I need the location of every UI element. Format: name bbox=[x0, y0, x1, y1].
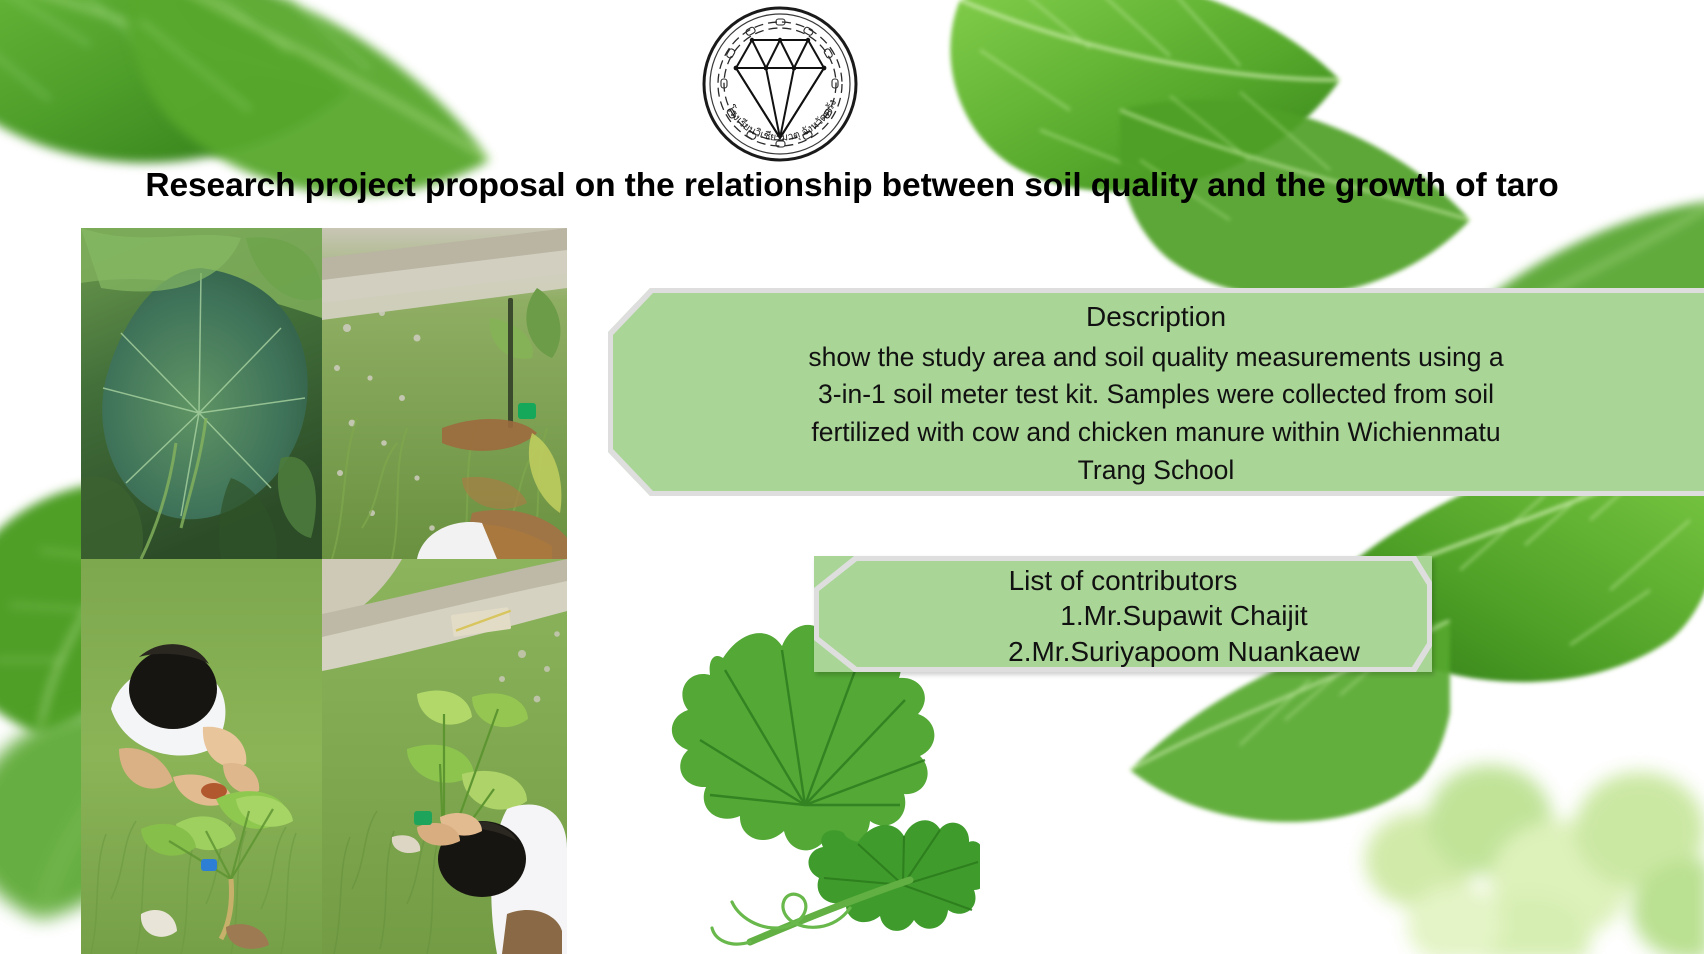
photo-student-measuring-border bbox=[322, 559, 567, 954]
description-line: 3-in-1 soil meter test kit. Samples were… bbox=[632, 376, 1680, 414]
description-body: show the study area and soil quality mea… bbox=[632, 339, 1680, 490]
contributor-item: 1.Mr.Supawit Chaijit bbox=[814, 598, 1554, 634]
school-emblem-icon: โรงเรียนวิเชียรมาตุ จังหวัดตรัง bbox=[700, 4, 860, 164]
contributor-item: 2.Mr.Suriyapoom Nuankaew bbox=[814, 634, 1554, 670]
leaf-decoration-top-center bbox=[940, 0, 1360, 270]
description-callout: Description show the study area and soil… bbox=[608, 288, 1704, 496]
photo-collage bbox=[81, 228, 567, 954]
contributors-heading: List of contributors bbox=[814, 564, 1432, 598]
description-line: fertilized with cow and chicken manure w… bbox=[632, 414, 1680, 452]
poster-canvas: โรงเรียนวิเชียรมาตุ จังหวัดตรัง Research… bbox=[0, 0, 1704, 954]
contributors-content: List of contributors bbox=[814, 556, 1432, 598]
photo-soil-meter-probe bbox=[322, 228, 567, 559]
description-line: show the study area and soil quality mea… bbox=[632, 339, 1680, 377]
contributors-list: 1.Mr.Supawit Chaijit 2.Mr.Suriyapoom Nua… bbox=[814, 598, 1554, 670]
foliage-bokeh-bottom-right bbox=[1360, 740, 1704, 954]
page-title: Research project proposal on the relatio… bbox=[0, 166, 1704, 206]
description-content: Description show the study area and soil… bbox=[632, 298, 1680, 489]
description-heading: Description bbox=[632, 298, 1680, 337]
photo-student-measuring-lawn bbox=[81, 559, 322, 954]
leaf-decoration-top-left-second bbox=[120, 0, 500, 260]
photo-taro-leaves-closeup bbox=[81, 228, 322, 559]
description-line: Trang School bbox=[632, 452, 1680, 490]
